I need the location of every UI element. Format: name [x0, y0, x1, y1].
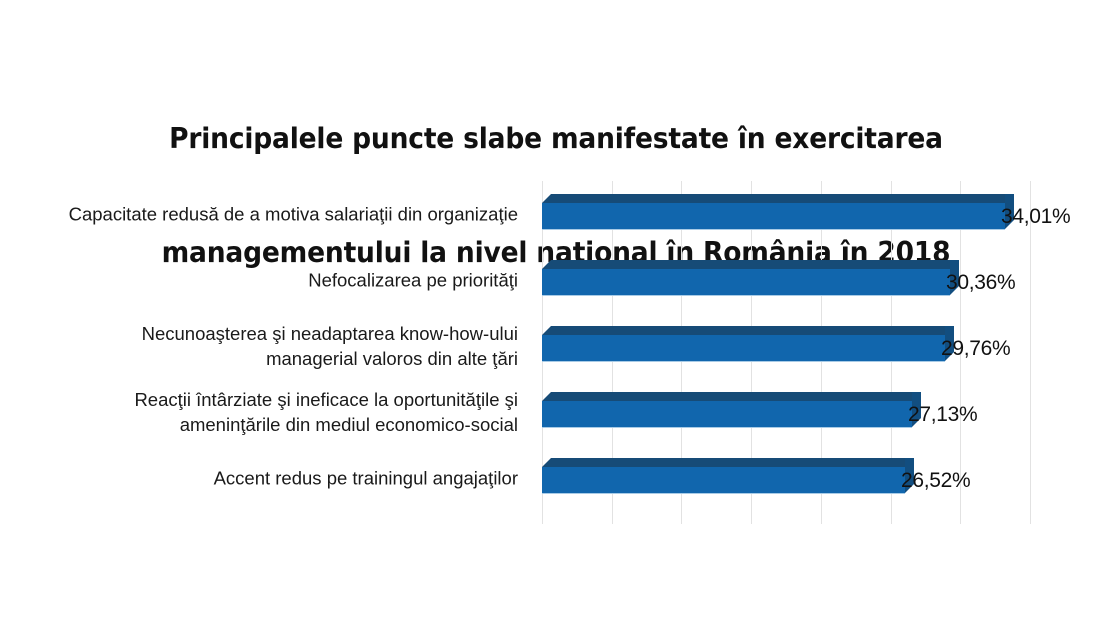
value-label-4: 26,52% — [901, 469, 970, 493]
bar-1[interactable] — [542, 260, 959, 300]
bar-0[interactable] — [542, 194, 1014, 234]
value-label-3: 27,13% — [908, 403, 977, 427]
value-label-1: 30,36% — [946, 271, 1015, 295]
bar-row: Necunoaşterea şi neadaptarea know-how-ul… — [0, 313, 1112, 379]
bar-underline — [542, 295, 950, 296]
bar-front-face — [542, 335, 945, 361]
chart-title-line-1: Principalele puncte slabe manifestate în… — [39, 120, 1073, 158]
bar-front-face — [542, 203, 1005, 229]
bar-front-face — [542, 269, 950, 295]
bar-3[interactable] — [542, 392, 921, 432]
bar-underline — [542, 427, 912, 428]
bar-underline — [542, 493, 905, 494]
bar-row: Reacţii întârziate şi ineficace la oport… — [0, 379, 1112, 445]
bar-underline — [542, 229, 1005, 230]
category-label-2: Necunoaşterea şi neadaptarea know-how-ul… — [0, 321, 518, 371]
bar-row: Accent redus pe trainingul angajaţilor26… — [0, 445, 1112, 511]
category-label-0: Capacitate redusă de a motiva salariaţii… — [0, 202, 518, 227]
bar-front-face — [542, 401, 912, 427]
value-label-2: 29,76% — [941, 337, 1010, 361]
bar-2[interactable] — [542, 326, 954, 366]
category-label-1: Nefocalizarea pe priorităţi — [0, 268, 518, 293]
category-label-4: Accent redus pe trainingul angajaţilor — [0, 466, 518, 491]
bar-front-face — [542, 467, 905, 493]
bar-row: Nefocalizarea pe priorităţi30,36% — [0, 247, 1112, 313]
bar-top-face — [542, 194, 1014, 203]
bar-top-face — [542, 326, 954, 335]
bar-underline — [542, 361, 945, 362]
bar-row: Capacitate redusă de a motiva salariaţii… — [0, 181, 1112, 247]
bar-top-face — [542, 260, 959, 269]
category-label-3: Reacţii întârziate şi ineficace la oport… — [0, 387, 518, 437]
bar-top-face — [542, 392, 921, 401]
value-label-0: 34,01% — [1001, 205, 1070, 229]
bar-top-face — [542, 458, 914, 467]
bar-4[interactable] — [542, 458, 914, 498]
